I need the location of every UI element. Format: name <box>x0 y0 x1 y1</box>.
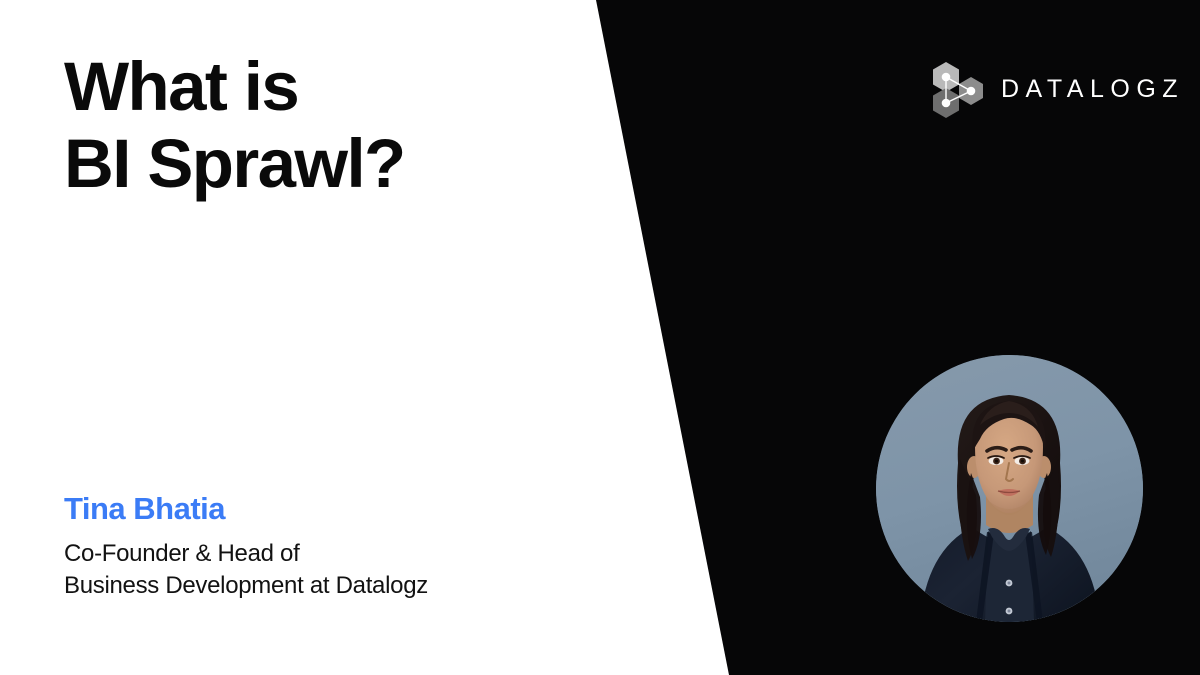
speaker-name: Tina Bhatia <box>64 492 584 526</box>
page-title: What is BI Sprawl? <box>64 52 584 198</box>
presentation-slide: What is BI Sprawl? Tina Bhatia Co-Founde… <box>0 0 1200 675</box>
brand-wordmark: DATALOGZ <box>1001 77 1184 102</box>
left-content-area: What is BI Sprawl? Tina Bhatia Co-Founde… <box>0 0 600 675</box>
speaker-role-line-2: Business Development at Datalogz <box>64 570 584 602</box>
speaker-info: Tina Bhatia Co-Founder & Head of Busines… <box>64 492 584 602</box>
avatar <box>876 355 1143 622</box>
title-line-1: What is <box>64 52 584 121</box>
speaker-role-line-1: Co-Founder & Head of <box>64 538 584 570</box>
speaker-portrait-image <box>876 355 1143 622</box>
title-line-2: BI Sprawl? <box>64 129 584 198</box>
datalogz-hexagon-icon <box>928 60 984 118</box>
brand-logo: DATALOGZ <box>928 60 1184 118</box>
